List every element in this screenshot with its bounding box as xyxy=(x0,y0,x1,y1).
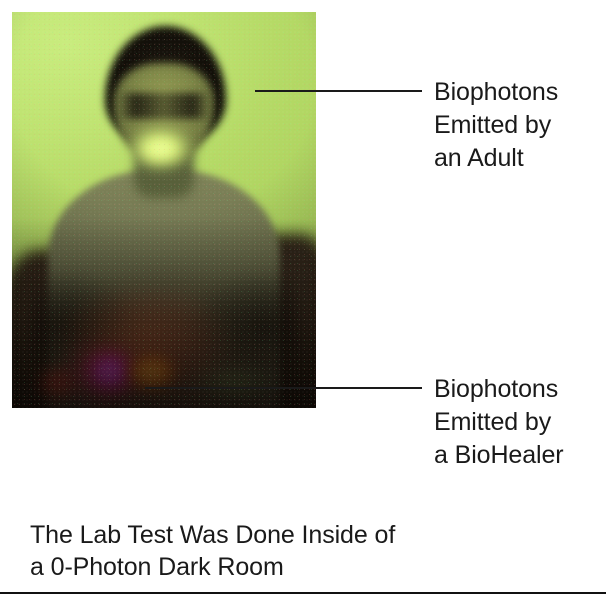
photo-sensor-noise xyxy=(12,12,316,408)
figure-root: Biophotons Emitted by an Adult Biophoton… xyxy=(0,0,606,600)
callout-label-biohealer: Biophotons Emitted by a BioHealer xyxy=(434,373,564,472)
leader-line-adult xyxy=(255,90,422,92)
callout-label-adult: Biophotons Emitted by an Adult xyxy=(434,76,558,175)
leader-line-biohealer xyxy=(145,387,422,389)
figure-caption: The Lab Test Was Done Inside of a 0-Phot… xyxy=(30,519,395,583)
biophoton-photograph xyxy=(12,12,316,408)
bottom-divider xyxy=(0,592,606,594)
